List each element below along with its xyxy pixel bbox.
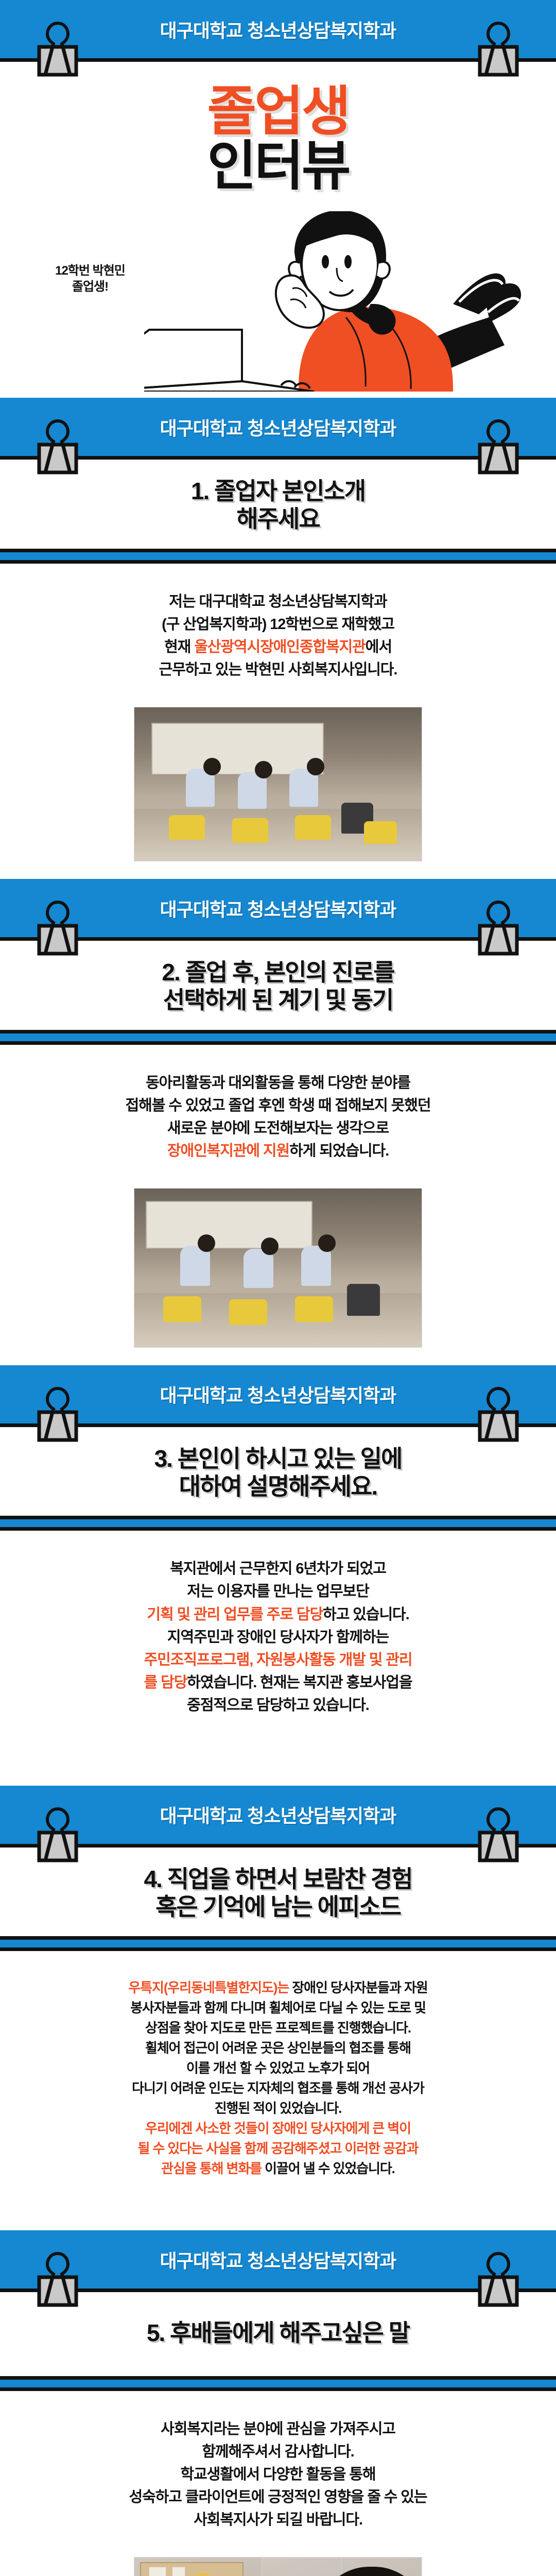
body-text: 이를 개선 할 수 있었고 노후가 되어 (186, 2060, 370, 2076)
body-text: 하였습니다. 현재는 복지관 홍보사업을 (187, 1674, 412, 1691)
section-2-banner-title: 대구대학교 청소년상담복지학과 (160, 895, 396, 922)
body-text: 함께해주셔서 감사합니다. (202, 2444, 354, 2460)
body-text: 현재 (164, 639, 194, 655)
body-line: 중점적으로 담당하고 있습니다. (15, 1694, 541, 1717)
body-text: 저는 이용자를 만나는 업무보단 (187, 1583, 369, 1600)
body-line: 봉사자분들과 함께 다니며 휠체어로 다닐 수 있는 도로 및 (15, 1998, 541, 2018)
section-1-body: 저는 대구대학교 청소년상담복지학과(구 산업복지학과) 12학번으로 재학했고… (0, 564, 556, 704)
binder-clip-icon (473, 1806, 524, 1863)
section-4-banner: 대구대학교 청소년상담복지학과 (0, 1786, 556, 1848)
body-text: 휠체어 접근이 어려운 곳은 상인분들의 협조를 통해 (145, 2040, 411, 2056)
student-with-laptop-illustration (144, 211, 525, 394)
section-5-banner: 대구대학교 청소년상담복지학과 (0, 2230, 556, 2292)
section-5-title-line-1: 5. 후배들에게 해주고싶은 말 (10, 2319, 546, 2347)
body-text: 새로운 분야에 도전해보자는 생각으로 (167, 1120, 389, 1137)
body-text: 사회복지사가 되길 바랍니다. (194, 2512, 362, 2528)
highlighted-text: 관심을 통해 변화를 (161, 2161, 262, 2176)
body-line: 근무하고 있는 박현민 사회복지사입니다. (15, 658, 541, 681)
hero-line-1: 졸업생 (0, 84, 556, 139)
section-4-title-line-1: 4. 직업을 하면서 보람찬 경험 (10, 1865, 546, 1893)
banner-title: 대구대학교 청소년상담복지학과 (160, 16, 396, 43)
body-line: 관심을 통해 변화를 이끌어 낼 수 있었습니다. (15, 2159, 541, 2179)
section-3-title-line-2: 대하여 설명해주세요. (10, 1472, 546, 1500)
body-text: 이끌어 낼 수 있었습니다. (262, 2161, 395, 2176)
body-line: 우리에겐 사소한 것들이 장애인 당사자에게 큰 벽이 (15, 2119, 541, 2139)
classroom-photo (134, 707, 422, 861)
highlighted-text: 주민조직프로그램, 자원봉사활동 개발 및 관리 (144, 1652, 412, 1668)
body-line: 휠체어 접근이 어려운 곳은 상인분들의 협조를 통해 (15, 2038, 541, 2058)
interview-infographic-page: 대구대학교 청소년상담복지학과 졸업생 인터뷰 12학번 박현민 졸업생! (0, 0, 556, 2576)
body-line: (구 산업복지학과) 12학번으로 재학했고 (15, 613, 541, 636)
binder-clip-icon (473, 20, 524, 78)
binder-clip-icon (473, 418, 524, 476)
program-photo (134, 1188, 422, 1348)
section-5-body: 사회복지라는 분야에 관심을 가져주시고함께해주셔서 감사합니다.학교생활에서 … (0, 2391, 556, 2554)
body-line: 를 담당하였습니다. 현재는 복지관 홍보사업을 (15, 1671, 541, 1694)
body-text: 사회복지라는 분야에 관심을 가져주시고 (161, 2421, 395, 2437)
body-line: 새로운 분야에 도전해보자는 생각으로 (15, 1117, 541, 1140)
body-line: 복지관에서 근무한지 6년차가 되었고 (15, 1557, 541, 1580)
body-text: 진행된 적이 있었습니다. (215, 2100, 342, 2116)
highlighted-text: 될 수 있다는 사실을 함께 공감해주셨고 이러한 공감과 (138, 2141, 419, 2156)
section-1-title-line-2: 해주세요 (10, 505, 546, 533)
body-text: 상점을 찾아 지도로 만든 프로젝트를 진행했습니다. (145, 2020, 411, 2036)
body-text: 에서 (366, 639, 392, 655)
interview-photo: 내년에도 청 바래요 윙성 의명여행 행복한 한 해 !! QUIT Smile (134, 2557, 422, 2576)
graduate-callout: 12학번 박현민 졸업생! (31, 263, 149, 295)
section-2-photo-wrap (0, 1185, 556, 1365)
body-text: 중점적으로 담당하고 있습니다. (187, 1697, 369, 1714)
binder-clip-icon (32, 1806, 83, 1863)
binder-clip-icon (473, 899, 524, 957)
highlighted-text: 를 담당 (144, 1674, 187, 1691)
section-2-rule (0, 1033, 556, 1045)
body-line: 진행된 적이 있었습니다. (15, 2098, 541, 2119)
binder-clip-icon (32, 418, 83, 476)
body-line: 성숙하고 클라이언트에 긍정적인 영향을 줄 수 있는 (15, 2486, 541, 2509)
body-line: 기획 및 관리 업무를 주로 담당하고 있습니다. (15, 1603, 541, 1626)
body-text: 학교생활에서 다양한 활동을 통해 (181, 2466, 376, 2483)
body-text: 동아리활동과 대외활동을 통해 다양한 분야를 (146, 1075, 410, 1091)
highlighted-text: 기획 및 관리 업무를 주로 담당 (147, 1606, 323, 1623)
body-line: 지역주민과 장애인 당사자가 함께하는 (15, 1626, 541, 1649)
section-3-title-line-1: 3. 본인이 하시고 있는 일에 (10, 1445, 546, 1472)
body-line: 장애인복지관에 지원하게 되었습니다. (15, 1140, 541, 1162)
section-1-banner: 대구대학교 청소년상담복지학과 (0, 398, 556, 460)
section-2-body: 동아리활동과 대외활동을 통해 다양한 분야를접해볼 수 있었고 졸업 후엔 학… (0, 1045, 556, 1185)
body-text: 성숙하고 클라이언트에 긍정적인 영향을 줄 수 있는 (129, 2489, 427, 2505)
highlighted-text: 울산광역시장애인종합복지관 (194, 639, 366, 655)
body-line: 사회복지라는 분야에 관심을 가져주시고 (15, 2418, 541, 2441)
body-text: 봉사자분들과 함께 다니며 휠체어로 다닐 수 있는 도로 및 (130, 2000, 426, 2015)
top-banner: 대구대학교 청소년상담복지학과 (0, 0, 556, 62)
body-text: 저는 대구대학교 청소년상담복지학과 (169, 594, 387, 610)
hero-title: 졸업생 인터뷰 (0, 62, 556, 207)
section-1-title-line-1: 1. 졸업자 본인소개 (10, 477, 546, 505)
hero-line-2: 인터뷰 (0, 139, 556, 194)
section-3-banner: 대구대학교 청소년상담복지학과 (0, 1365, 556, 1427)
body-text: 지역주민과 장애인 당사자가 함께하는 (167, 1629, 389, 1646)
body-text: 근무하고 있는 박현민 사회복지사입니다. (159, 662, 397, 678)
binder-clip-icon (473, 1385, 524, 1443)
section-3-banner-title: 대구대학교 청소년상담복지학과 (160, 1381, 396, 1408)
binder-clip-icon (32, 1385, 83, 1443)
body-text: 하고 있습니다. (323, 1606, 409, 1623)
body-line: 학교생활에서 다양한 활동을 통해 (15, 2463, 541, 2486)
section-5-photo-wrap: 내년에도 청 바래요 윙성 의명여행 행복한 한 해 !! QUIT Smile (0, 2554, 556, 2576)
body-line: 이를 개선 할 수 있었고 노후가 되어 (15, 2058, 541, 2078)
section-2-banner: 대구대학교 청소년상담복지학과 (0, 879, 556, 941)
binder-clip-icon (473, 2250, 524, 2308)
section-4-rule (0, 1940, 556, 1951)
section-2-title-line-2: 선택하게 된 계기 및 동기 (10, 986, 546, 1014)
highlighted-text: 장애인복지관에 지원 (167, 1143, 289, 1159)
body-text: 장애인 당사자분들과 자원 (289, 1980, 427, 1995)
section-3-body: 복지관에서 근무한지 6년차가 되었고저는 이용자를 만나는 업무보단기획 및 … (0, 1531, 556, 1739)
body-text: (구 산업복지학과) 12학번으로 재학했고 (162, 616, 394, 633)
section-2-title-line-1: 2. 졸업 후, 본인의 진로를 (10, 958, 546, 986)
section-1-photo-wrap (0, 704, 556, 879)
graduate-callout-line-2: 졸업생! (31, 279, 149, 295)
body-line: 함께해주셔서 감사합니다. (15, 2441, 541, 2463)
section-3-rule (0, 1519, 556, 1531)
student-illustration-block: 12학번 박현민 졸업생! (0, 207, 556, 398)
section-1-banner-title: 대구대학교 청소년상담복지학과 (160, 414, 396, 440)
body-line: 될 수 있다는 사실을 함께 공감해주셨고 이러한 공감과 (15, 2139, 541, 2159)
body-line: 동아리활동과 대외활동을 통해 다양한 분야를 (15, 1072, 541, 1094)
binder-clip-icon (32, 899, 83, 957)
body-line: 사회복지사가 되길 바랍니다. (15, 2509, 541, 2531)
body-text: 접해볼 수 있었고 졸업 후엔 학생 때 접해보지 못했던 (126, 1097, 431, 1114)
body-line: 다니기 어려운 인도는 지자체의 협조를 통해 개선 공사가 (15, 2078, 541, 2098)
highlighted-text: 우특지(우리동네특별한지도)는 (128, 1980, 289, 1995)
highlighted-text: 우리에겐 사소한 것들이 장애인 당사자에게 큰 벽이 (145, 2121, 411, 2136)
body-line: 저는 이용자를 만나는 업무보단 (15, 1580, 541, 1603)
section-4-body: 우특지(우리동네특별한지도)는 장애인 당사자분들과 자원봉사자분들과 함께 다… (0, 1951, 556, 2201)
body-line: 상점을 찾아 지도로 만든 프로젝트를 진행했습니다. (15, 2018, 541, 2038)
body-text: 복지관에서 근무한지 6년차가 되었고 (170, 1561, 386, 1577)
body-line: 접해볼 수 있었고 졸업 후엔 학생 때 접해보지 못했던 (15, 1094, 541, 1117)
body-text: 하게 되었습니다. (289, 1143, 389, 1159)
body-line: 저는 대구대학교 청소년상담복지학과 (15, 590, 541, 613)
body-line: 우특지(우리동네특별한지도)는 장애인 당사자분들과 자원 (15, 1978, 541, 1998)
section-5-rule (0, 2380, 556, 2391)
body-line: 현재 울산광역시장애인종합복지관에서 (15, 636, 541, 658)
section-1-rule (0, 552, 556, 564)
body-line: 주민조직프로그램, 자원봉사활동 개발 및 관리 (15, 1649, 541, 1671)
graduate-callout-line-1: 12학번 박현민 (31, 263, 149, 279)
section-4-banner-title: 대구대학교 청소년상담복지학과 (160, 1801, 396, 1828)
section-5-banner-title: 대구대학교 청소년상담복지학과 (160, 2246, 396, 2273)
body-text: 다니기 어려운 인도는 지자체의 협조를 통해 개선 공사가 (132, 2080, 424, 2096)
section-4-title-line-2: 혹은 기억에 남는 에피소드 (10, 1893, 546, 1921)
binder-clip-icon (32, 2250, 83, 2308)
binder-clip-icon (32, 20, 83, 78)
